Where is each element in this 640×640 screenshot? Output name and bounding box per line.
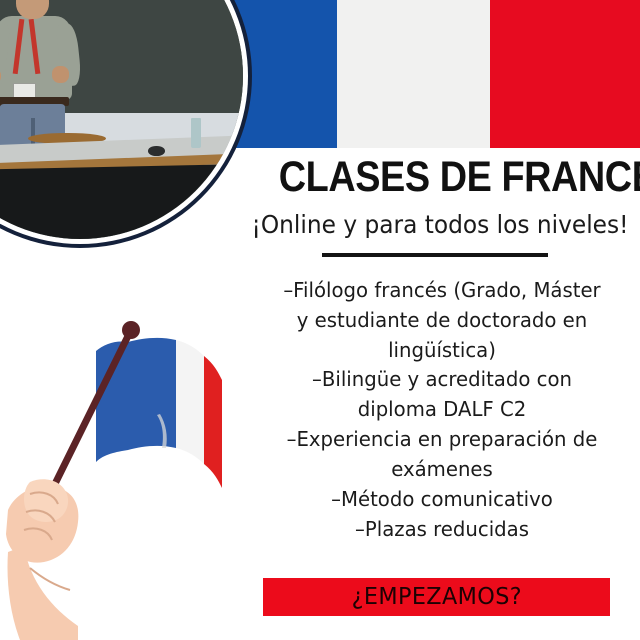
list-item: –Filólogo francés (Grado, Máster (256, 276, 628, 306)
hand-holding-french-flag-icon (0, 296, 250, 640)
list-item: y estudiante de doctorado en (256, 306, 628, 336)
photo-water-bottle (191, 118, 201, 147)
poster-canvas: CLASES DE FRANCÉS ¡Online y para todos l… (0, 0, 640, 640)
photo-desk-mouse (148, 146, 164, 156)
presenter-photo-ring (0, 0, 252, 248)
list-item: lingüística) (256, 336, 628, 366)
list-item: –Bilingüe y acreditado con (256, 365, 628, 395)
flag-band-white (337, 0, 490, 148)
presenter-photo (0, 0, 243, 239)
photo-person-hand-right (52, 66, 69, 82)
illustration-thumb (24, 479, 68, 522)
cta-banner[interactable]: ¿EMPEZAMOS? (263, 578, 610, 616)
title-divider (322, 253, 548, 257)
flag-band-red (490, 0, 640, 148)
french-flag-banner (208, 0, 640, 148)
list-item: –Experiencia en preparación de (256, 425, 628, 455)
list-item: diploma DALF C2 (256, 395, 628, 425)
cta-label: ¿EMPEZAMOS? (351, 584, 521, 610)
list-item: –Plazas reducidas (256, 515, 628, 545)
photo-desk-front (0, 164, 243, 239)
photo-name-badge (13, 83, 36, 98)
illustration-pole-finial (122, 321, 140, 339)
features-list: –Filólogo francés (Grado, Máster y estud… (256, 276, 628, 544)
page-title: CLASES DE FRANCÉS (279, 156, 613, 199)
list-item: exámenes (256, 455, 628, 485)
list-item: –Método comunicativo (256, 485, 628, 515)
page-subtitle: ¡Online y para todos los niveles! (250, 212, 630, 239)
